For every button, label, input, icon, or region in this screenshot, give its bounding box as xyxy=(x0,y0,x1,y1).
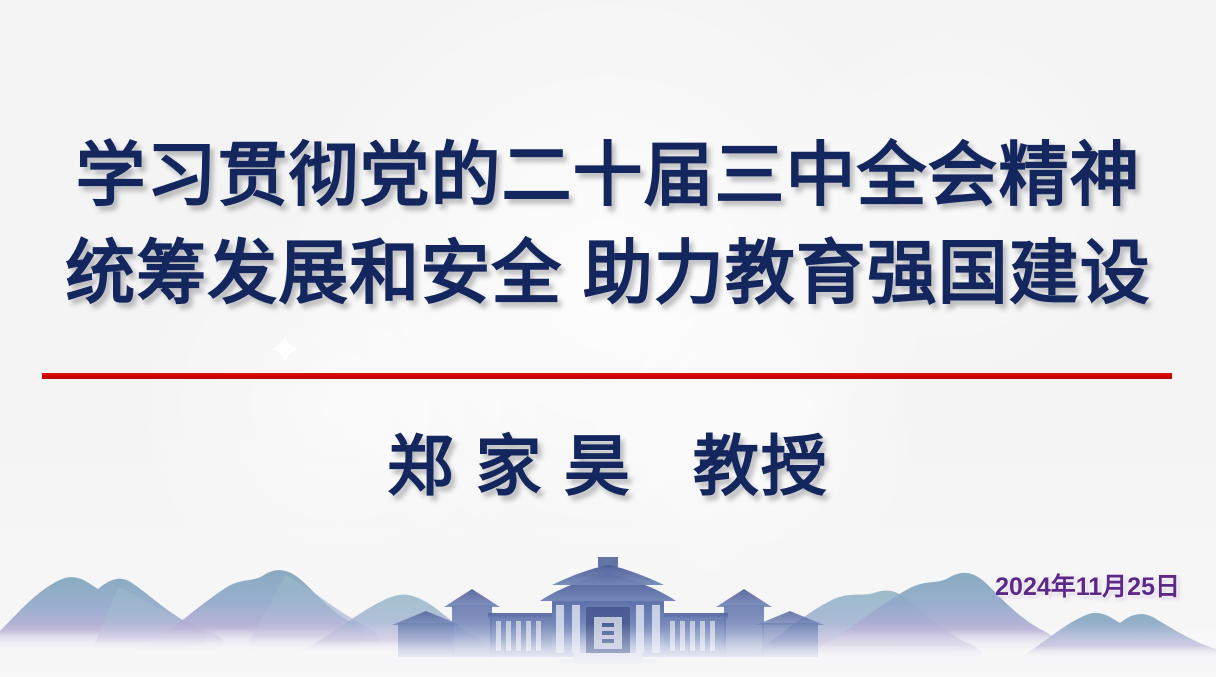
presenter-name: 郑 家 昊 教授 xyxy=(387,418,829,514)
mountain-range-left-center xyxy=(140,570,379,651)
presenter-block: 郑 家 昊 教授 xyxy=(0,418,1216,514)
mountain-range-left xyxy=(0,577,224,651)
red-divider xyxy=(42,373,1172,379)
date-label: 2024年11月25日 xyxy=(995,567,1180,603)
mountain-range-right-center xyxy=(752,591,982,659)
title-slide: 学习贯彻党的二十届三中全会精神 统筹发展和安全 助力教育强国建设 郑 家 昊 教… xyxy=(0,0,1216,677)
mountain-range-far-right xyxy=(1020,613,1216,659)
title-line-1: 学习贯彻党的二十届三中全会精神 xyxy=(0,126,1216,224)
title-line-2: 统筹发展和安全 助力教育强国建设 xyxy=(0,224,1216,322)
sparkle-icon xyxy=(270,334,300,364)
page-title: 学习贯彻党的二十届三中全会精神 统筹发展和安全 助力教育强国建设 xyxy=(0,126,1216,322)
classical-building-icon xyxy=(392,557,824,664)
mountain-range-mid-left xyxy=(300,595,486,653)
